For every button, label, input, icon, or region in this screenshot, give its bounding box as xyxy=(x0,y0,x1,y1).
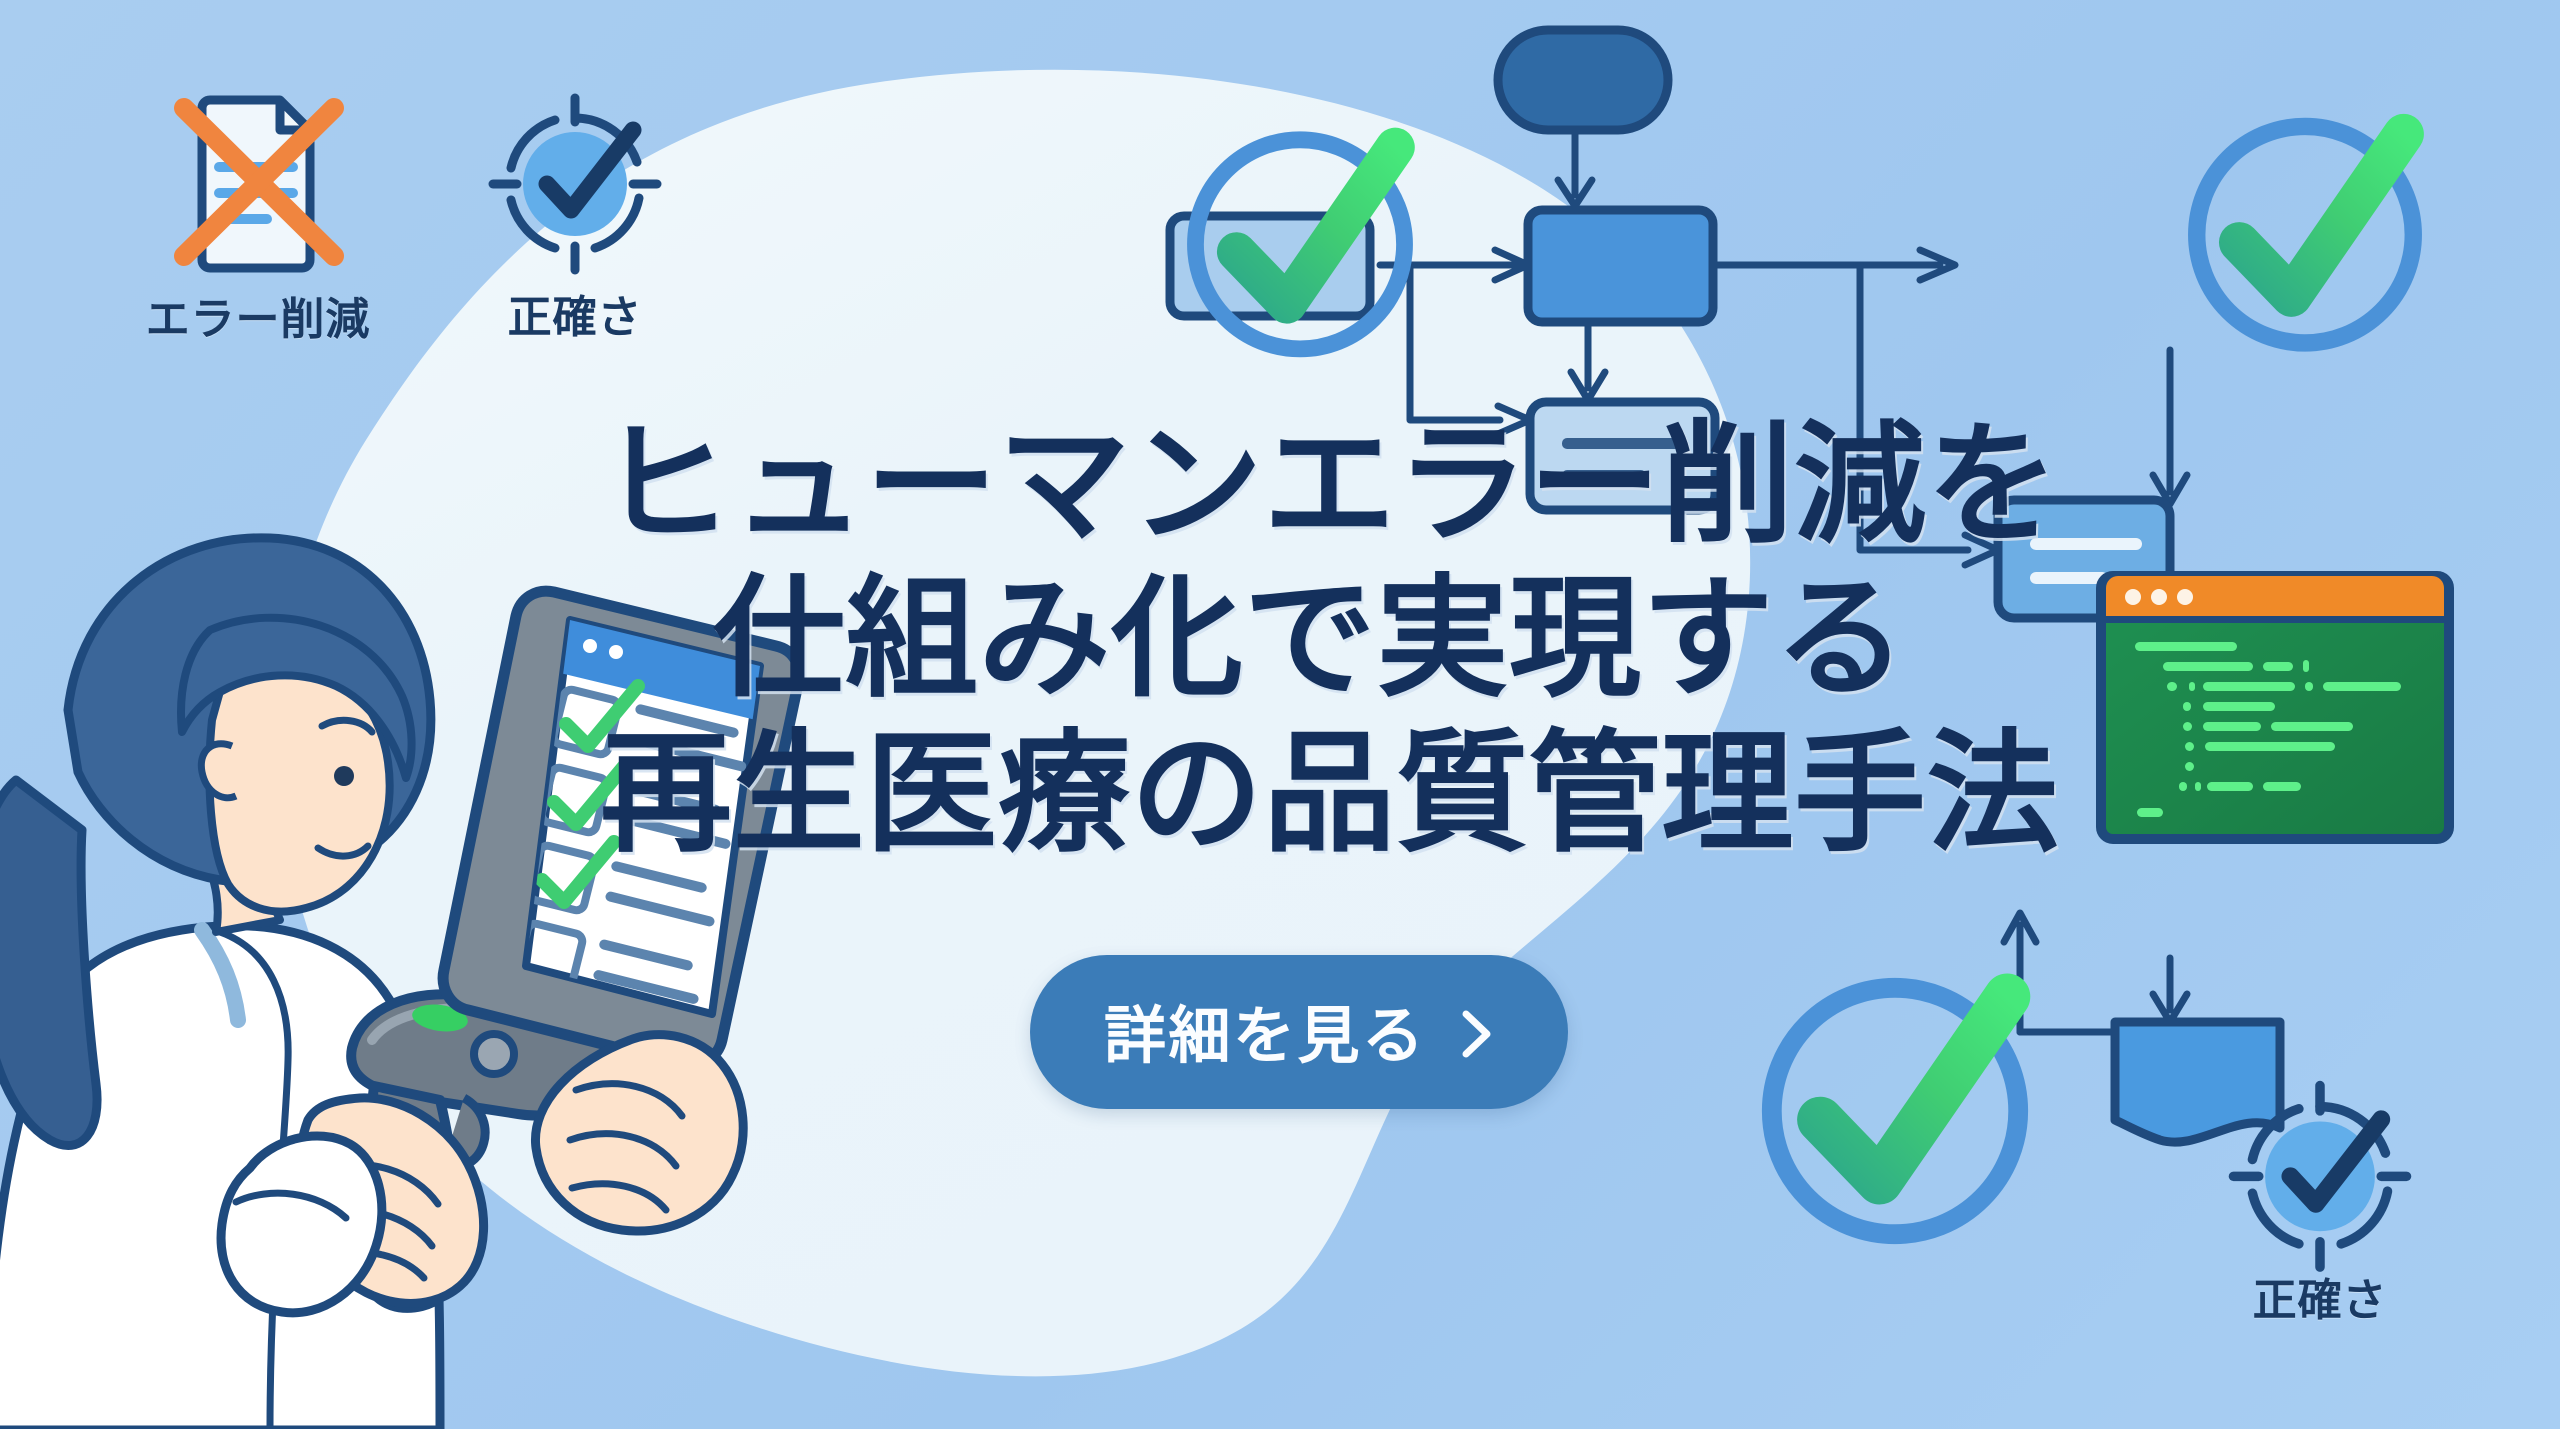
hero-banner: エラー削減 正確さ xyxy=(0,0,2560,1429)
page-title: ヒューマンエラー削減を 仕組み化で実現する 再生医療の品質管理手法 xyxy=(600,408,2020,871)
flow-node-process xyxy=(1528,210,1713,322)
chevron-right-icon xyxy=(1460,1004,1494,1056)
badge-accuracy-bottom: 正確さ xyxy=(2180,1075,2460,1328)
flow-node-start xyxy=(1498,30,1668,130)
headline-line-3: 再生医療の品質管理手法 xyxy=(600,717,2020,871)
cta-label: 詳細を見る xyxy=(1104,985,1426,1075)
circle-check-icon xyxy=(1730,935,2060,1265)
circle-check-icon xyxy=(1160,95,1440,375)
headline-line-2: 仕組み化で実現する xyxy=(600,562,2020,716)
circle-check-icon xyxy=(2160,80,2450,370)
badge-label: 正確さ xyxy=(455,281,695,345)
headline-line-1: ヒューマンエラー削減を xyxy=(600,408,2020,562)
terminal-window-icon xyxy=(2095,570,2455,845)
target-checkmark-icon xyxy=(2225,1075,2415,1260)
badge-label: エラー削減 xyxy=(118,283,398,347)
target-checkmark-icon xyxy=(485,88,665,273)
badge-accuracy-top: 正確さ xyxy=(455,88,695,345)
badge-error-reduction: エラー削減 xyxy=(118,88,398,347)
details-cta-button[interactable]: 詳細を見る xyxy=(1030,955,1568,1109)
crossed-out-document-icon xyxy=(158,88,358,273)
